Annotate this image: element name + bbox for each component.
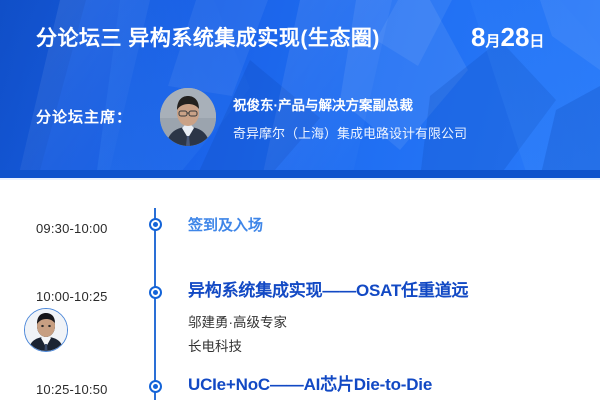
speaker-portrait-icon (25, 309, 67, 351)
chair-name: 祝俊东·产品与解决方案副总裁 (233, 99, 413, 113)
agenda-row-time: 10:25-10:50 (36, 383, 108, 396)
date-month-unit: 月 (485, 33, 500, 50)
timeline-dot-icon (149, 286, 162, 299)
chair-avatar (160, 88, 216, 146)
date-month-number: 8 (471, 22, 485, 52)
header-banner: 分论坛三 异构系统集成实现(生态圈) 8月28日 分论坛主席： 祝俊东·产品与解… (0, 0, 600, 178)
agenda-row-title: UCIe+NoC——AI芯片Die-to-Die (188, 376, 432, 393)
chair-organization: 奇异摩尔（上海）集成电路设计有限公司 (233, 127, 467, 140)
forum-title: 分论坛三 异构系统集成实现(生态圈) (36, 28, 380, 49)
agenda-row-time: 09:30-10:00 (36, 222, 108, 235)
event-agenda-poster: 分论坛三 异构系统集成实现(生态圈) 8月28日 分论坛主席： 祝俊东·产品与解… (0, 0, 600, 400)
header-bottom-strip (0, 170, 600, 178)
chair-portrait-icon (160, 88, 216, 146)
agenda-row-title: 异构系统集成实现——OSAT任重道远 (188, 282, 468, 299)
agenda-speaker-name: 邬建勇·高级专家 (188, 316, 287, 330)
timeline-dot-icon (149, 218, 162, 231)
date-day-unit: 日 (529, 33, 544, 50)
timeline-dot-icon (149, 380, 162, 393)
agenda-row-title: 签到及入场 (188, 218, 263, 233)
agenda-speaker-org: 长电科技 (188, 340, 242, 354)
chair-label: 分论坛主席： (36, 110, 132, 125)
date-day-number: 28 (500, 22, 529, 52)
timeline-axis (154, 208, 156, 400)
agenda-row-time: 10:00-10:25 (36, 290, 108, 303)
speaker-avatar (24, 308, 68, 352)
agenda-list: 09:30-10:00 签到及入场 10:00-10:25 异构系统集成实现——… (0, 180, 600, 400)
forum-date: 8月28日 (471, 24, 544, 50)
